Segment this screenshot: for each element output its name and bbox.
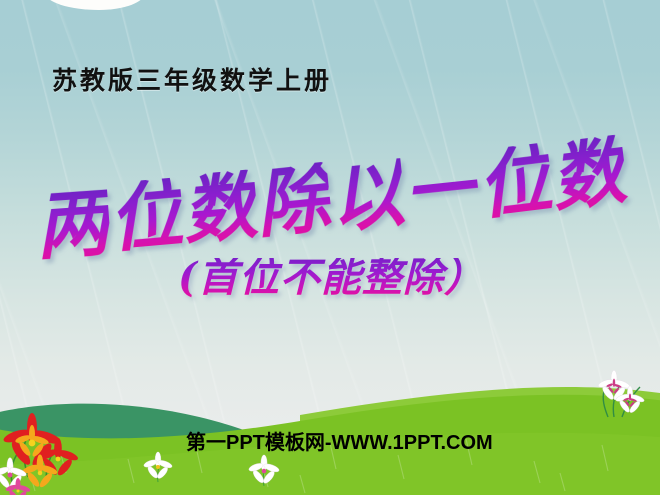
page-title-char-1: 两 (33, 186, 112, 265)
ppt-title-slide: 苏教版三年级数学上册 两位数除以一位数 (首位不能整除） 第一PPT模板网-WW… (0, 0, 660, 495)
page-subtitle: (首位不能整除） (178, 258, 485, 298)
page-title-char-5: 以 (326, 157, 407, 238)
page-title-char-7: 位 (473, 142, 555, 224)
page-title-char-3: 数 (180, 169, 260, 249)
page-title-char-4: 除 (252, 162, 333, 243)
page-title-char-8: 数 (547, 134, 629, 216)
subject-line: 苏教版三年级数学上册 (52, 61, 332, 97)
watermark-text: 第一PPT模板网-WWW.1PPT.COM (186, 426, 493, 455)
page-title: 两位数除以一位数 (38, 158, 638, 232)
scenery-illustration (0, 355, 660, 495)
page-title-char-6: 一 (400, 151, 481, 232)
page-title-char-2: 位 (106, 177, 186, 257)
